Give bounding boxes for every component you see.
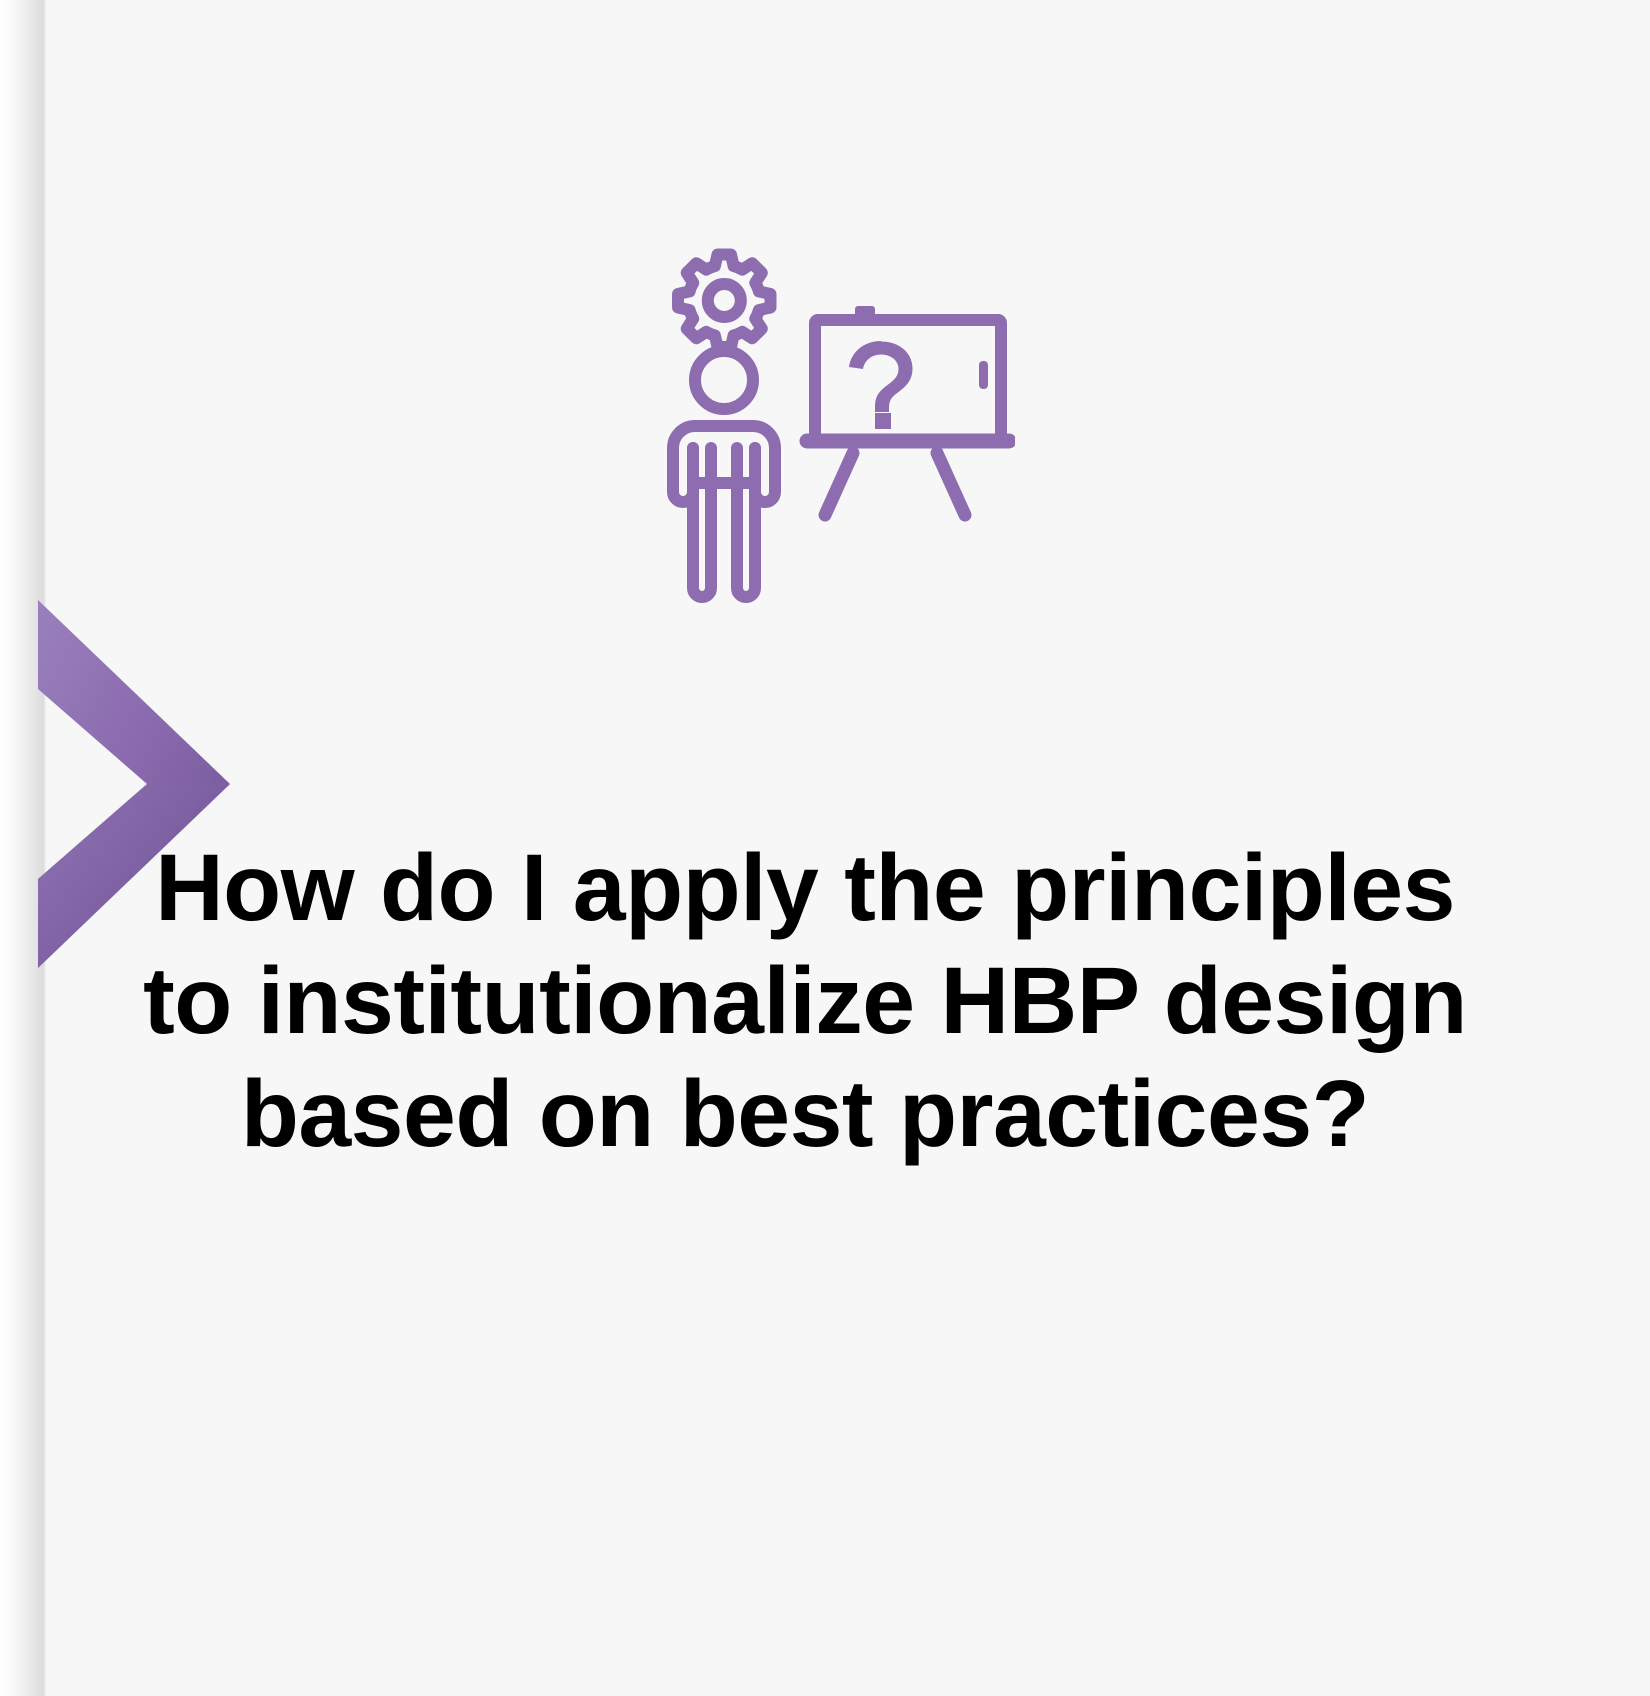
person-icon [673,351,775,597]
gear-icon [678,255,771,348]
page-title: How do I apply the principles to institu… [140,832,1470,1171]
slide-canvas: How do I apply the principles to institu… [0,0,1650,1696]
question-mark-glyph [849,341,913,429]
marker-tray-icon [979,361,988,389]
person-with-gear-and-question-whiteboard-icon [655,243,1015,608]
easel-whiteboard-icon [807,306,1009,515]
